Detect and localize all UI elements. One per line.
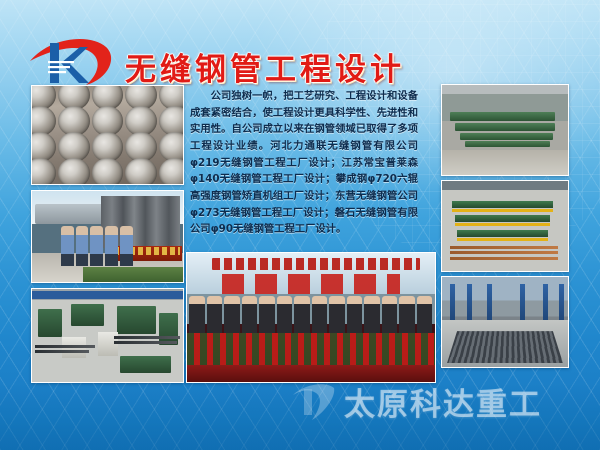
photo-company-gate-group-scene: [32, 191, 183, 282]
brochure-page: 无缝钢管工程设计 公司独树一帜，把工艺研究、工程设计和设备成套紧密结合，使工程设…: [0, 0, 600, 450]
background-bottom-sheen: [0, 384, 600, 450]
photo-ceremony-banner-scene: [187, 253, 435, 382]
photo-machine-hall: [441, 84, 569, 176]
photo-steel-pipes-scene: [32, 86, 183, 184]
watermark: 太原科达重工: [292, 378, 592, 424]
photo-roller-conveyor-scene: [442, 181, 568, 271]
photo-ceremony-banner: [186, 252, 436, 383]
photo-company-gate-group: [31, 190, 184, 283]
photo-machinery-yard-scene: [32, 289, 183, 382]
photo-roller-conveyor: [441, 180, 569, 272]
photo-steel-pipes: [31, 85, 184, 185]
kd-watermark-mark-icon: [292, 381, 336, 421]
body-copy-text: 公司独树一帜，把工艺研究、工程设计和设备成套紧密结合，使工程设计更具科学性、先进…: [190, 88, 418, 238]
photo-bar-stock-hall: [441, 276, 569, 368]
watermark-text: 太原科达重工: [344, 379, 542, 424]
page-title: 无缝钢管工程设计: [125, 44, 475, 88]
photo-bar-stock-hall-scene: [442, 277, 568, 367]
photo-machine-hall-scene: [442, 85, 568, 175]
kd-logo-icon: [28, 33, 120, 89]
photo-machinery-yard: [31, 288, 184, 383]
